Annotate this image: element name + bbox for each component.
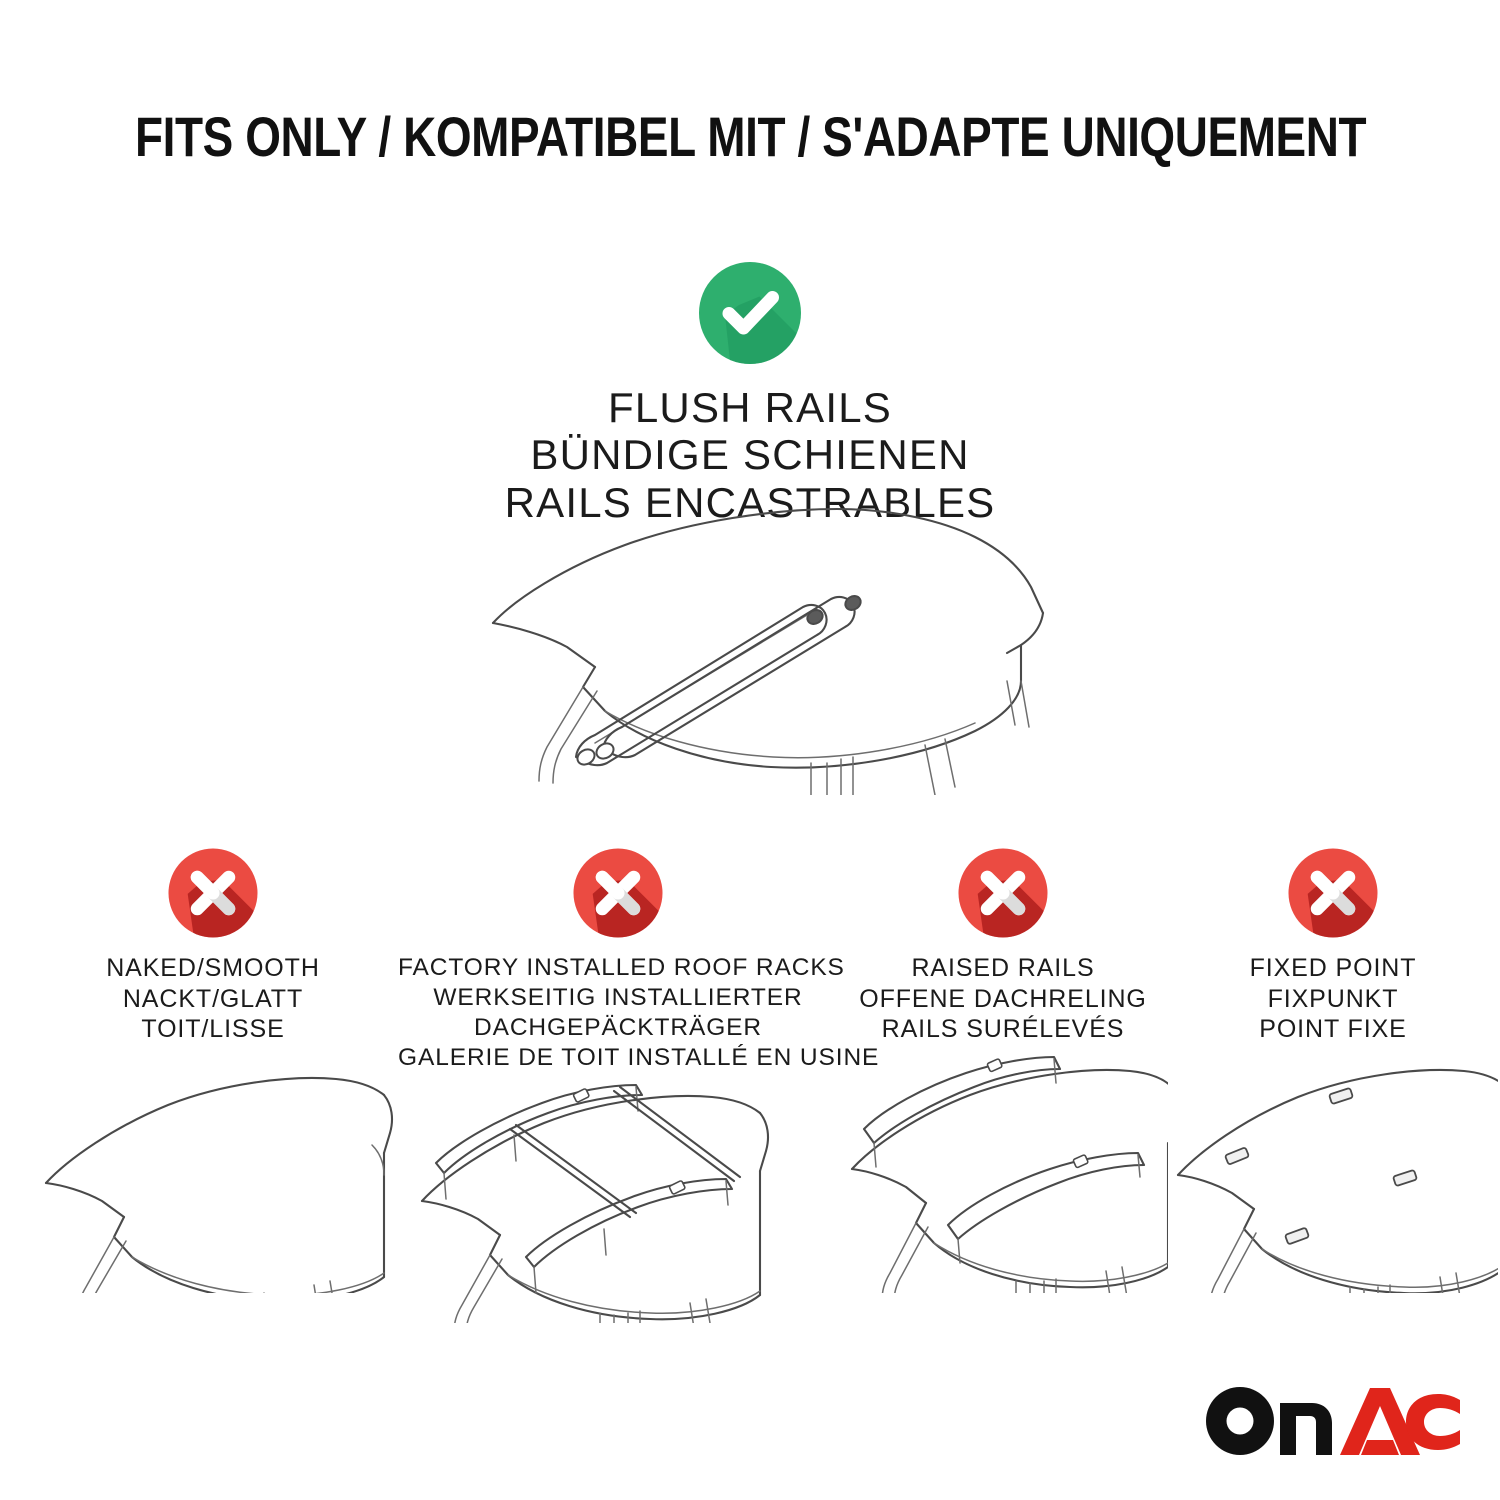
compatible-section: FLUSH RAILS BÜNDIGE SCHIENEN RAILS ENCAS… (0, 258, 1500, 526)
incompatible-column-factory-roof-racks: FACTORY INSTALLED ROOF RACKS WERKSEITIG … (398, 845, 838, 1073)
compatible-label-de: BÜNDIGE SCHIENEN (0, 431, 1500, 478)
incompatible-label-fr-1: GALERIE DE TOIT INSTALLÉ EN USINE (398, 1043, 838, 1073)
car-roof-raised-rails-illustration (838, 1043, 1168, 1298)
x-icon-wrap-2 (838, 845, 1168, 953)
incompatible-label-group-2: RAISED RAILS OFFENE DACHRELING RAILS SUR… (838, 953, 1168, 1045)
incompatible-label-group-1: FACTORY INSTALLED ROOF RACKS WERKSEITIG … (398, 953, 838, 1073)
omac-logo-letter-c (1406, 1394, 1460, 1450)
incompatible-label-en-2: RAISED RAILS (838, 953, 1168, 984)
page-title: FITS ONLY / KOMPATIBEL MIT / S'ADAPTE UN… (135, 104, 1365, 169)
incompatible-label-group-0: NAKED/SMOOTH NACKT/GLATT TOIT/LISSE (28, 953, 398, 1045)
incompatible-label-de-3: FIXPUNKT (1168, 984, 1498, 1015)
incompatible-label-en-1: FACTORY INSTALLED ROOF RACKS (398, 953, 838, 983)
x-circle-icon (570, 845, 666, 941)
car-roof-fixed-point-illustration (1168, 1043, 1498, 1298)
x-icon-wrap-3 (1168, 845, 1498, 953)
x-icon-wrap-0 (28, 845, 398, 953)
incompatible-label-fr-0: TOIT/LISSE (28, 1014, 398, 1045)
incompatible-column-naked-smooth: NAKED/SMOOTH NACKT/GLATT TOIT/LISSE (28, 845, 398, 1045)
incompatible-label-de1-1: WERKSEITIG INSTALLIERTER (398, 983, 838, 1013)
incompatible-label-fr-3: POINT FIXE (1168, 1014, 1498, 1045)
incompatible-label-en-3: FIXED POINT (1168, 953, 1498, 984)
x-circle-icon (955, 845, 1051, 941)
incompatible-sections: NAKED/SMOOTH NACKT/GLATT TOIT/LISSE (0, 845, 1500, 1345)
omac-logo-letter-m (1280, 1403, 1332, 1455)
omac-logo-letter-o (1206, 1387, 1274, 1455)
incompatible-label-de-2: OFFENE DACHRELING (838, 984, 1168, 1015)
incompatible-label-de2-1: DACHGEPÄCKTRÄGER (398, 1013, 838, 1043)
car-roof-factory-roof-racks-illustration (398, 1073, 838, 1328)
incompatible-label-en-0: NAKED/SMOOTH (28, 953, 398, 984)
check-circle-icon (695, 258, 805, 368)
incompatible-label-de-0: NACKT/GLATT (28, 984, 398, 1015)
x-icon-wrap-1 (398, 845, 838, 953)
incompatible-label-fr-2: RAILS SURÉLEVÉS (838, 1014, 1168, 1045)
omac-logo (1204, 1384, 1460, 1458)
incompatible-column-fixed-point: FIXED POINT FIXPUNKT POINT FIXE (1168, 845, 1498, 1045)
incompatible-column-raised-rails: RAISED RAILS OFFENE DACHRELING RAILS SUR… (838, 845, 1168, 1045)
x-circle-icon (1285, 845, 1381, 941)
incompatible-label-group-3: FIXED POINT FIXPUNKT POINT FIXE (1168, 953, 1498, 1045)
car-roof-flush-rails-illustration (455, 495, 1065, 795)
car-roof-naked-smooth-illustration (28, 1043, 398, 1298)
x-circle-icon (165, 845, 261, 941)
compatible-label-en: FLUSH RAILS (0, 384, 1500, 431)
